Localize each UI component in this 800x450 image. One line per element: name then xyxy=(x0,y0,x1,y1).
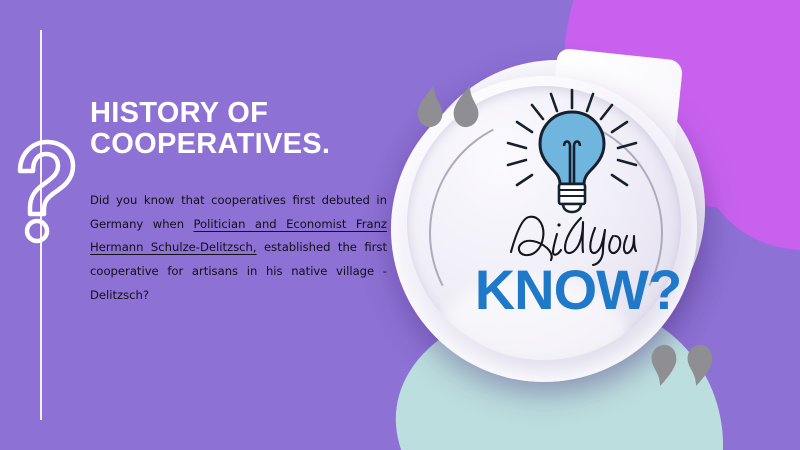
question-mark-icon xyxy=(8,135,80,245)
body-paragraph: Did you know that cooperatives first deb… xyxy=(90,189,387,308)
slide-canvas: HISTORY OF COOPERATIVES. Did you know th… xyxy=(0,0,800,450)
lightbulb-icon xyxy=(498,88,646,216)
quotation-marks-closing-icon xyxy=(650,338,726,392)
quotation-marks-opening-icon xyxy=(404,80,480,134)
page-title: HISTORY OF COOPERATIVES. xyxy=(90,98,390,161)
know-headline: KNOW? xyxy=(463,262,693,318)
text-column: HISTORY OF COOPERATIVES. Did you know th… xyxy=(90,98,390,308)
magenta-blob-decoration-secondary xyxy=(700,40,800,250)
